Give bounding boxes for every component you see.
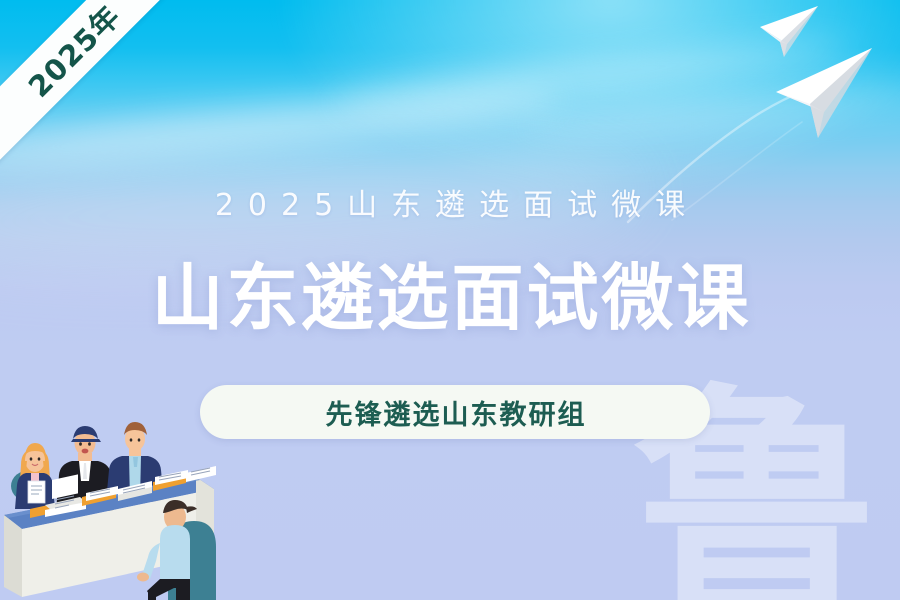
poster-banner: 2025年 鲁 [0, 0, 900, 600]
organization-badge: 先锋遴选山东教研组 [200, 385, 710, 439]
poster-main-title: 山东遴选面试微课 [0, 258, 900, 339]
paper-plane-small-icon [760, 6, 818, 57]
interviewer-woman [15, 443, 55, 509]
document-stack-6 [186, 466, 216, 482]
paper-plane-large-icon [776, 48, 872, 138]
organization-badge-label: 先锋遴选山东教研组 [324, 393, 587, 432]
poster-subtitle: 2025山东遴选面试微课 [0, 180, 900, 224]
paper-planes-group [740, 0, 900, 160]
